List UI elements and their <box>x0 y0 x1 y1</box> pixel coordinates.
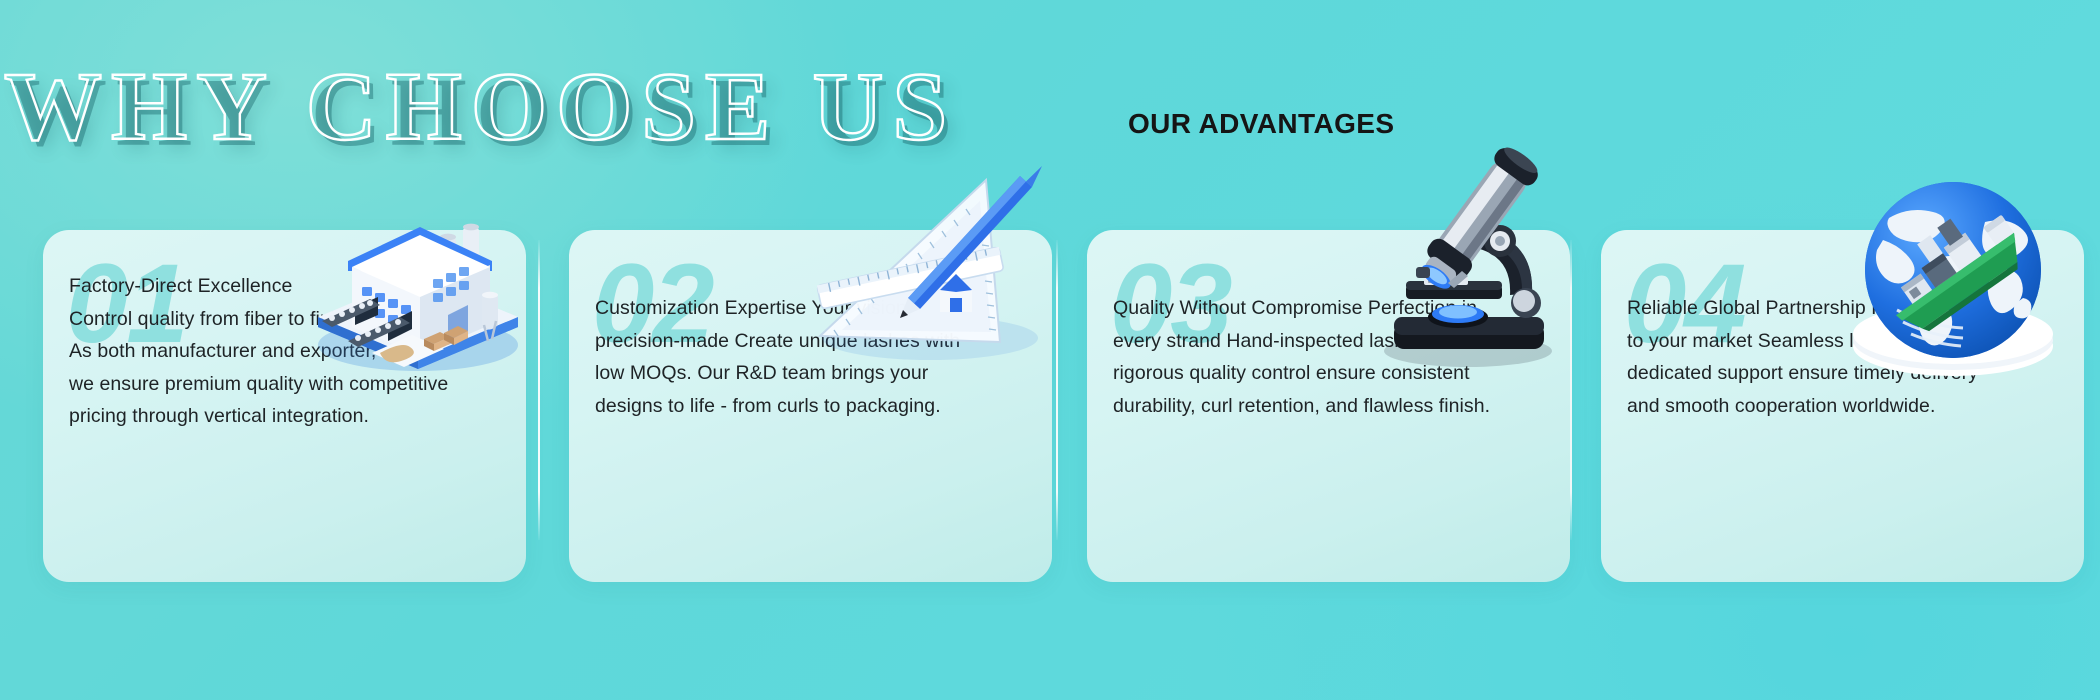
card-line: As both manufacturer and exporter, <box>69 335 499 368</box>
card-line: and smooth cooperation worldwide. <box>1627 390 2057 423</box>
card-divider <box>538 240 540 540</box>
card-body-text: Quality Without Compromise Perfection in… <box>1113 292 1543 422</box>
why-choose-us-banner: WHY CHOOSE US OUR ADVANTAGES 01 Factory-… <box>0 0 2100 700</box>
card-line: pricing through vertical integration. <box>69 400 499 433</box>
page-title: WHY CHOOSE US <box>4 52 956 162</box>
headline-row: WHY CHOOSE US OUR ADVANTAGES <box>0 52 2100 162</box>
card-body-text: Customization Expertise Your vision, pre… <box>595 292 1025 422</box>
card-line: dedicated support ensure timely delivery <box>1627 357 2057 390</box>
card-line: Quality Without Compromise Perfection in <box>1113 292 1543 325</box>
card-line: durability, curl retention, and flawless… <box>1113 390 1543 423</box>
card-line: Reliable Global Partnership From our fac… <box>1627 292 2057 325</box>
card-line: low MOQs. Our R&D team brings your <box>595 357 1025 390</box>
card-line: Control quality from fiber to finished p… <box>69 303 499 336</box>
card-line: to your market Seamless logistics and <box>1627 325 2057 358</box>
advantage-card[interactable]: 01 Factory-Direct Excellence Control qua… <box>43 230 526 582</box>
card-line: we ensure premium quality with competiti… <box>69 368 499 401</box>
advantage-card[interactable]: 03 Quality Without Compromise Perfection… <box>1087 230 1570 582</box>
card-body-text: Factory-Direct Excellence Control qualit… <box>69 270 499 433</box>
card-line: rigorous quality control ensure consiste… <box>1113 357 1543 390</box>
card-divider <box>1570 240 1572 540</box>
card-line: every strand Hand-inspected lashes with <box>1113 325 1543 358</box>
advantage-card[interactable]: 02 Customization Expertise Your vision, … <box>569 230 1052 582</box>
card-divider <box>1056 240 1058 540</box>
card-line: Factory-Direct Excellence <box>69 270 499 303</box>
card-body-text: Reliable Global Partnership From our fac… <box>1627 292 2057 422</box>
card-line: precision-made Create unique lashes with <box>595 325 1025 358</box>
page-subtitle: OUR ADVANTAGES <box>1128 108 1394 140</box>
card-line: Customization Expertise Your vision, <box>595 292 1025 325</box>
card-line: designs to life - from curls to packagin… <box>595 390 1025 423</box>
advantage-card[interactable]: 04 Reliable Global Partnership From our … <box>1601 230 2084 582</box>
advantage-card-list: 01 Factory-Direct Excellence Control qua… <box>0 230 2100 585</box>
